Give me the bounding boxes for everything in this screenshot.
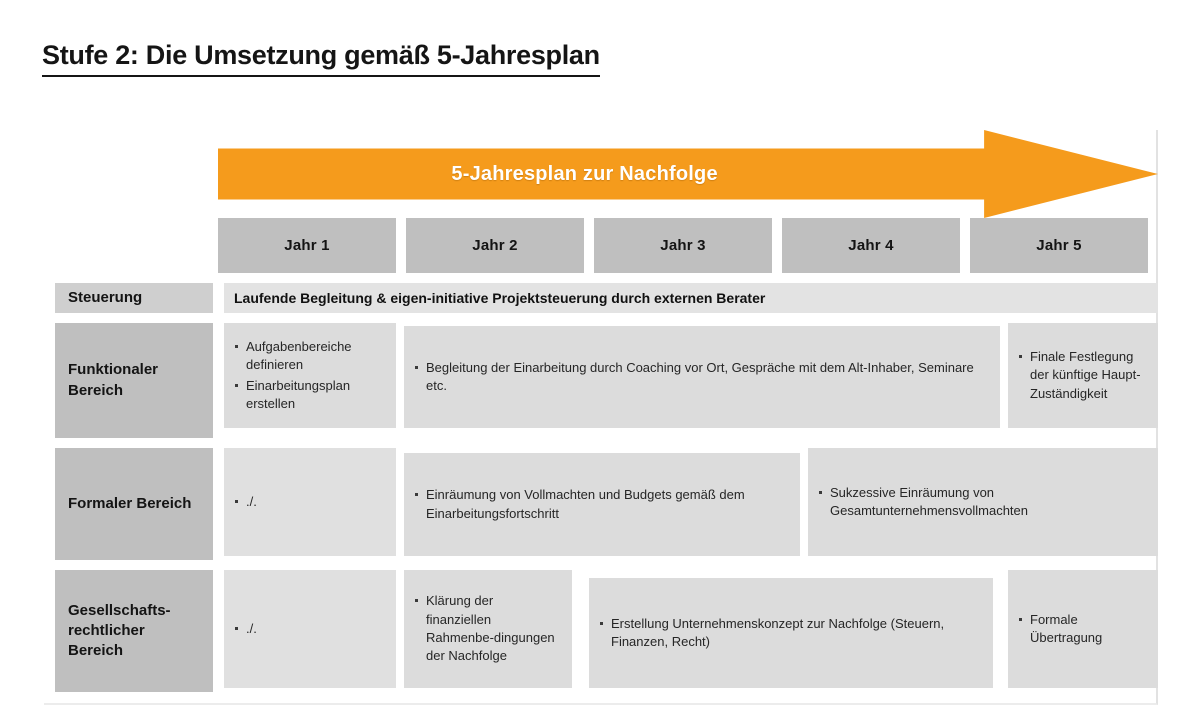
bullet-list: ./.	[234, 620, 384, 638]
plan-grid: Jahr 1 Jahr 2 Jahr 3 Jahr 4 Jahr 5 Steue…	[44, 218, 1158, 692]
bullet-item: Einräumung von Vollmachten und Budgets g…	[414, 486, 788, 523]
year-header-3: Jahr 3	[594, 218, 772, 273]
five-year-plan-arrow: 5-Jahresplan zur Nachfolge	[218, 130, 1158, 218]
gesellschaftsrechtlicher-bereich-row: Gesellschafts-rechtlicher Bereich ./. Kl…	[44, 570, 1158, 692]
funktionaler-bereich-row: Funktionaler Bereich Aufgabenbereiche de…	[44, 323, 1158, 438]
row-label-funktionaler-bereich: Funktionaler Bereich	[55, 323, 213, 438]
bullet-list: ./.	[234, 493, 384, 511]
bullet-item: Klärung der finanziellen Rahmenbe-dingun…	[414, 592, 560, 666]
cell-formaler-jahr2-3: Einräumung von Vollmachten und Budgets g…	[404, 453, 800, 556]
cell-gesell-jahr2: Klärung der finanziellen Rahmenbe-dingun…	[404, 570, 572, 688]
bullet-item: Aufgabenbereiche definieren	[234, 338, 384, 375]
bullet-item: ./.	[234, 493, 384, 511]
bullet-item: Sukzessive Einräumung von Gesamtunterneh…	[818, 484, 1146, 521]
bullet-item: Erstellung Unternehmenskonzept zur Nachf…	[599, 615, 981, 652]
bullet-list: Klärung der finanziellen Rahmenbe-dingun…	[414, 592, 560, 666]
bullet-list: Finale Festlegung der künftige Haupt-Zus…	[1018, 348, 1146, 403]
steuerung-row: Steuerung Laufende Begleitung & eigen-in…	[44, 283, 1158, 313]
five-year-plan-diagram: 5-Jahresplan zur Nachfolge Jahr 1 Jahr 2…	[44, 130, 1158, 705]
cell-gesell-jahr3-4: Erstellung Unternehmenskonzept zur Nachf…	[589, 578, 993, 688]
formaler-bereich-row: Formaler Bereich ./. Einräumung von Voll…	[44, 448, 1158, 560]
page-title: Stufe 2: Die Umsetzung gemäß 5-Jahrespla…	[42, 40, 600, 77]
bullet-item: Einarbeitungsplan erstellen	[234, 377, 384, 414]
year-header-row: Jahr 1 Jahr 2 Jahr 3 Jahr 4 Jahr 5	[44, 218, 1158, 273]
bullet-item: Formale Übertragung	[1018, 611, 1146, 648]
cell-funktionaler-jahr5: Finale Festlegung der künftige Haupt-Zus…	[1008, 323, 1158, 428]
arrow-label: 5-Jahresplan zur Nachfolge	[218, 130, 951, 218]
row-label-formaler-bereich: Formaler Bereich	[55, 448, 213, 560]
row-label-gesellschaftsrechtlicher-bereich: Gesellschafts-rechtlicher Bereich	[55, 570, 213, 692]
bullet-list: Formale Übertragung	[1018, 611, 1146, 648]
row-label-steuerung: Steuerung	[55, 283, 213, 313]
bullet-item: ./.	[234, 620, 384, 638]
year-header-2: Jahr 2	[406, 218, 584, 273]
bullet-list: Sukzessive Einräumung von Gesamtunterneh…	[818, 484, 1146, 521]
year-header-1: Jahr 1	[218, 218, 396, 273]
bullet-list: Begleitung der Einarbeitung durch Coachi…	[414, 359, 988, 396]
cell-gesell-jahr1: ./.	[224, 570, 396, 688]
bullet-item: Finale Festlegung der künftige Haupt-Zus…	[1018, 348, 1146, 403]
bullet-list: Aufgabenbereiche definieren Einarbeitung…	[234, 338, 384, 414]
cell-funktionaler-jahr1: Aufgabenbereiche definieren Einarbeitung…	[224, 323, 396, 428]
cell-formaler-jahr4-5: Sukzessive Einräumung von Gesamtunterneh…	[808, 448, 1158, 556]
steuerung-description: Laufende Begleitung & eigen-initiative P…	[224, 283, 1158, 313]
cell-gesell-jahr5: Formale Übertragung	[1008, 570, 1158, 688]
year-header-5: Jahr 5	[970, 218, 1148, 273]
bullet-item: Begleitung der Einarbeitung durch Coachi…	[414, 359, 988, 396]
cell-funktionaler-jahr2-4: Begleitung der Einarbeitung durch Coachi…	[404, 326, 1000, 428]
year-header-4: Jahr 4	[782, 218, 960, 273]
cell-formaler-jahr1: ./.	[224, 448, 396, 556]
bullet-list: Erstellung Unternehmenskonzept zur Nachf…	[599, 615, 981, 652]
bullet-list: Einräumung von Vollmachten und Budgets g…	[414, 486, 788, 523]
